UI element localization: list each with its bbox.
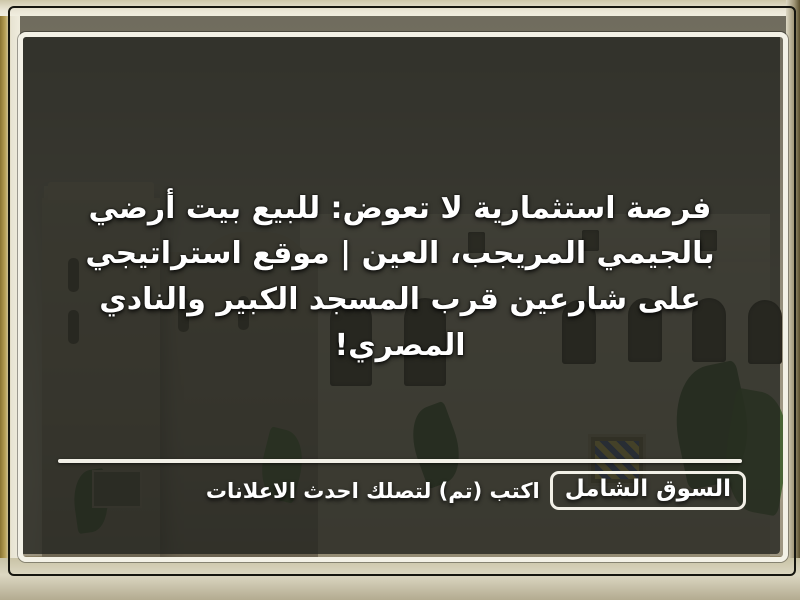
- footer-row: السوق الشامل اكتب (تم) لتصلك احدث الاعلا…: [40, 471, 760, 510]
- frame-bevel-bottom: [0, 558, 800, 600]
- frame-bevel-top: [0, 0, 800, 16]
- frame-bevel-left: [0, 0, 20, 600]
- footer-tagline: اكتب (تم) لتصلك احدث الاعلانات: [206, 479, 540, 503]
- footer-area: السوق الشامل اكتب (تم) لتصلك احدث الاعلا…: [40, 459, 760, 510]
- brand-logo[interactable]: السوق الشامل: [550, 471, 746, 510]
- ad-banner: فرصة استثمارية لا تعوض: للبيع بيت أرضي ب…: [0, 0, 800, 600]
- footer-divider: [58, 459, 742, 463]
- content-area: فرصة استثمارية لا تعوض: للبيع بيت أرضي ب…: [40, 48, 760, 540]
- frame-bevel-right: [786, 0, 800, 600]
